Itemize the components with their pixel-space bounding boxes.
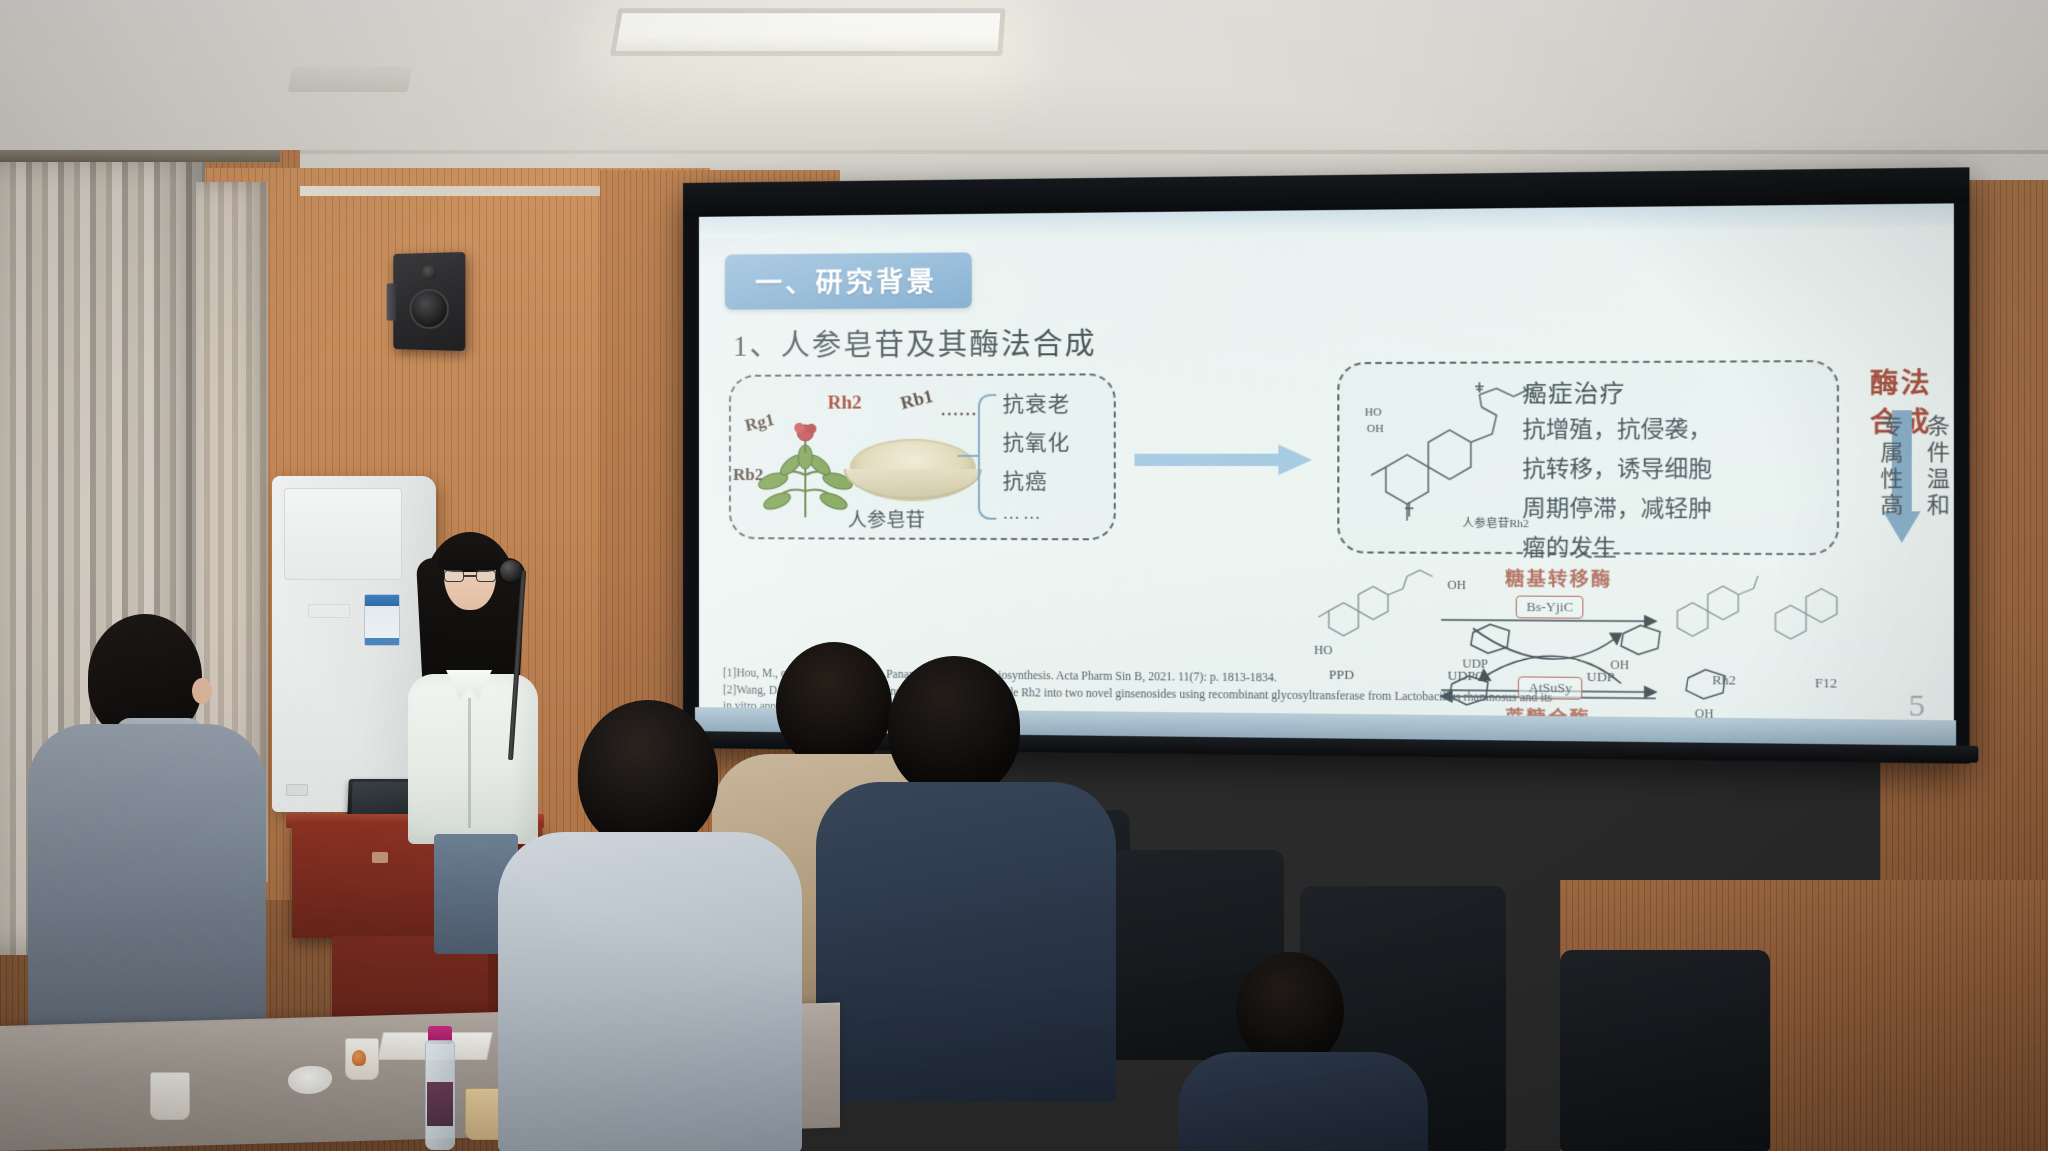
benefit-antioxidant: 抗氧化 <box>1003 426 1071 457</box>
speaker-driver-icon <box>409 289 448 329</box>
audience-torso <box>28 724 266 1054</box>
conference-room-scene: 一、研究背景 1、人参皂苷及其酶法合成 Rg1 Rh2 Rb1 Rb2 ....… <box>0 0 2048 1151</box>
cancer-therapy-line-4: 瘤的发生 <box>1522 529 1828 563</box>
cancer-therapy-line-3: 周期停滞，减轻肿 <box>1522 490 1828 524</box>
compound-label-ellipsis: ...... <box>941 402 978 420</box>
ginseng-plant-icon <box>757 413 854 522</box>
audience-torso <box>1178 1052 1428 1151</box>
speaker-bracket <box>387 283 396 320</box>
slide-subtitle: 1、人参皂苷及其酶法合成 <box>733 320 1097 364</box>
ceiling-vent <box>288 66 413 92</box>
ac-display-bottom-bar <box>365 638 399 645</box>
glasses-bridge <box>464 575 476 577</box>
cancer-therapy-line-2: 抗转移，诱导细胞 <box>1522 450 1828 484</box>
ceiling-seam <box>0 150 2048 154</box>
speaker-tweeter-icon <box>421 265 436 280</box>
wall-speaker <box>393 252 465 351</box>
glycosyltransferase-name: 糖基转移酶 <box>1505 564 1612 591</box>
audience-head <box>578 700 718 850</box>
arrow-head <box>1278 444 1312 475</box>
cup-flower-decoration <box>352 1050 366 1066</box>
svg-text:OH: OH <box>1447 578 1466 593</box>
chair <box>1560 950 1770 1151</box>
benefit-anti-aging: 抗衰老 <box>1003 388 1071 419</box>
brace-stem <box>957 455 979 457</box>
compound-label-rh2: Rh2 <box>828 392 862 414</box>
cancer-therapy-heading: 癌症治疗 <box>1522 373 1625 409</box>
audience-torso <box>498 832 802 1151</box>
audience-torso <box>816 782 1116 1102</box>
enzymatic-advantage-specificity: 专属性高 <box>1874 414 1907 519</box>
bottle-label <box>427 1082 453 1126</box>
audience-member <box>42 614 252 1044</box>
benefit-ellipsis: …… <box>1003 504 1044 524</box>
ac-vent <box>286 784 308 796</box>
paper-cup <box>150 1072 190 1120</box>
cancer-therapy-line-1: 抗增殖，抗侵袭， <box>1522 410 1828 444</box>
curtain-rod <box>0 150 280 162</box>
ac-brand-logo <box>308 604 350 618</box>
svg-text:HO: HO <box>1314 643 1333 658</box>
slide-title: 一、研究背景 <box>725 252 972 309</box>
presenter-body <box>408 674 538 844</box>
presenter-glasses-icon <box>444 570 496 582</box>
rh2-structure-label: 人参皂苷Rh2 <box>1462 515 1529 532</box>
ginsenoside-caption: 人参皂苷 <box>848 505 925 532</box>
glasses-lens-right <box>476 570 496 582</box>
audience-member <box>520 700 780 1151</box>
benefits-brace <box>978 394 996 520</box>
audience-member <box>840 656 1090 1096</box>
rh2-structure-icon: HO OH <box>1365 380 1535 536</box>
microphone-head-icon <box>500 560 522 582</box>
presenter-shirt-placket <box>468 698 471 828</box>
audience-ear <box>192 678 212 704</box>
wall-light-strip <box>300 186 600 196</box>
svg-text:HO: HO <box>1365 406 1382 418</box>
svg-text:OH: OH <box>1367 423 1384 435</box>
benefit-anticancer: 抗癌 <box>1003 465 1048 495</box>
audience-member <box>1196 952 1406 1151</box>
ac-front-panel <box>284 488 402 580</box>
ceiling-light-panel <box>610 8 1006 56</box>
flow-arrow-right <box>1134 449 1318 472</box>
glasses-lens-left <box>444 570 464 582</box>
slide-number: 5 <box>1908 688 1925 724</box>
podium-emblem <box>372 852 388 863</box>
arrow-shaft <box>1134 454 1280 466</box>
ac-control-display[interactable] <box>364 594 400 646</box>
audience-head <box>888 656 1020 798</box>
enzymatic-advantage-conditions: 条件温和 <box>1921 414 1954 519</box>
enzyme-tag-bsyjic: Bs-YjiC <box>1516 596 1584 619</box>
ac-display-top-bar <box>365 595 399 606</box>
